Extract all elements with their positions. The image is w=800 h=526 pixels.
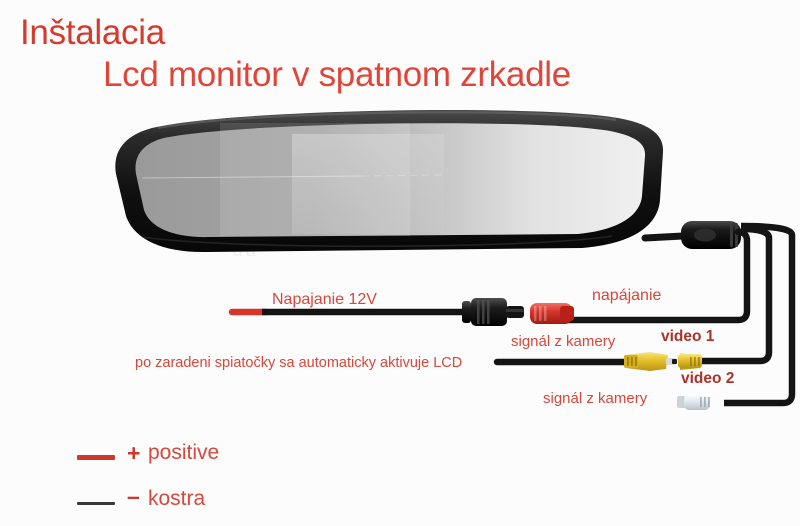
rca-connector-video1-right [678, 353, 702, 370]
label-lcd-trigger: po zaradeni spiatočky sa automaticky akt… [135, 355, 462, 371]
cable-splitter-block [681, 221, 741, 249]
label-power-input: Napajanie 12V [272, 291, 377, 309]
rca-connector-video1-left [624, 352, 677, 371]
label-video-2: video 2 [681, 370, 734, 388]
label-power-plug: napájanie [592, 287, 661, 305]
label-video-1: video 1 [661, 328, 714, 346]
legend-swatch-ground [77, 502, 115, 505]
label-camera-signal-2: signál z kamery [543, 390, 647, 407]
legend-sign-positive: + [127, 440, 140, 467]
diagram-canvas: Inštalacia Lcd monitor v spatnom zrkadle… [0, 0, 800, 526]
mirror-output-cable [645, 236, 683, 238]
legend-label-ground: kostra [148, 487, 205, 511]
legend-sign-ground: – [127, 483, 140, 510]
legend-swatch-positive [77, 455, 115, 460]
dc-barrel-connector-female-red [530, 303, 574, 324]
rca-connector-video2 [677, 394, 710, 410]
dc-barrel-plug-male [462, 298, 524, 326]
label-camera-signal-1: signál z kamery [511, 333, 615, 350]
legend-label-positive: positive [148, 441, 219, 465]
wiring-diagram [0, 0, 800, 526]
